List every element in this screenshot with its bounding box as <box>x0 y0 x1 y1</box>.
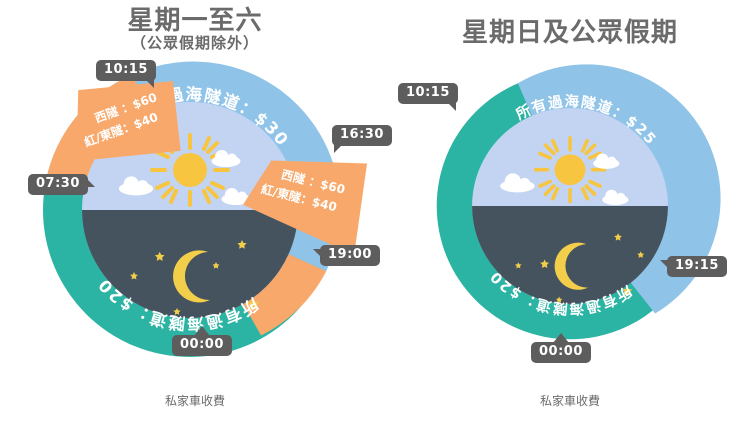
sun-icon <box>536 138 605 201</box>
weekday-footer-note: 私家車收費 <box>0 392 390 409</box>
badge-0730: 07:30 <box>28 174 88 195</box>
sunday-footer-note: 私家車收費 <box>390 392 750 409</box>
badge-0000: 00:00 <box>172 335 232 356</box>
weekday-subtitle: （公眾假期除外） <box>0 34 390 52</box>
badge-1015: 10:15 <box>398 83 458 104</box>
badge-1015: 10:15 <box>96 60 156 81</box>
sunday-dial-svg: 所有過海隧道：$25 所有過海隧道：$20 <box>434 70 706 342</box>
sunday-title: 星期日及公眾假期 <box>390 18 750 48</box>
panel-weekday: 星期一至六 （公眾假期除外） <box>0 0 390 422</box>
badge-1900: 19:00 <box>320 245 380 266</box>
weekday-title: 星期一至六 <box>0 6 390 36</box>
sunday-dial: 所有過海隧道：$25 所有過海隧道：$20 <box>434 70 706 342</box>
badge-0000: 00:00 <box>531 342 591 363</box>
badge-1630: 16:30 <box>332 125 392 146</box>
badge-1915: 19:15 <box>667 256 727 277</box>
panel-sunday-holiday: 星期日及公眾假期 <box>390 0 750 422</box>
